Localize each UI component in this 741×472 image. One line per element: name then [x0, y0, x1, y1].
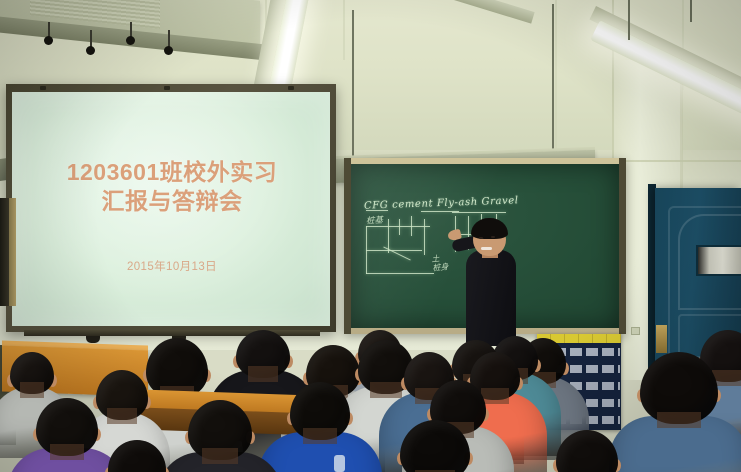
wall-trim-strip — [9, 198, 16, 306]
wall-speaker-dark — [0, 198, 9, 306]
person-neck — [20, 382, 45, 398]
screen-knob — [86, 336, 100, 343]
blackboard-note-right: 土桩身 — [431, 254, 449, 273]
chalk-underline — [366, 210, 388, 211]
person-neck — [50, 444, 85, 460]
person-neck — [303, 428, 337, 444]
person-neck — [370, 382, 401, 398]
person-neck — [481, 388, 509, 404]
blackboard-frame-left — [344, 158, 351, 334]
chalk-line — [366, 273, 434, 274]
person-neck — [107, 408, 136, 424]
light-hanger-rod — [552, 4, 554, 160]
chalk-pile — [411, 216, 412, 236]
person-neck — [202, 448, 238, 464]
ceiling-seam — [343, 0, 345, 60]
presenter-eye-left — [479, 237, 483, 239]
door-handle-plate[interactable] — [656, 325, 667, 353]
slide-title-line-1: 1203601班校外实习 — [22, 158, 322, 187]
blackboard-subnote-text: 桩基 — [366, 214, 384, 227]
presenter-mouth — [481, 247, 492, 250]
screen-bolt — [288, 86, 294, 90]
projector-knob — [44, 36, 53, 45]
light-switch[interactable] — [631, 327, 640, 335]
slide-title-line-2: 汇报与答辩会 — [22, 187, 322, 216]
person-neck — [248, 366, 278, 382]
projector-knob — [164, 46, 173, 55]
door-window — [696, 245, 741, 276]
light-hanger-rod — [690, 0, 692, 22]
ceiling-seam — [555, 0, 557, 160]
projector-knob — [86, 46, 95, 55]
water-bottle — [334, 455, 345, 472]
chalk-pile — [399, 219, 400, 235]
classroom-photo: 1203601班校外实习 汇报与答辩会 2015年10月13日 CFG ceme… — [0, 0, 741, 472]
blackboard-frame-right — [619, 158, 626, 334]
slide-date: 2015年10月13日 — [22, 258, 322, 274]
projector-knob — [126, 36, 135, 45]
screen-bolt — [164, 86, 170, 90]
light-hanger-rod — [628, 0, 630, 40]
screen-bolt — [40, 86, 46, 90]
chalk-line — [452, 212, 506, 213]
presenter-torso — [466, 250, 516, 346]
chalk-pile — [424, 219, 425, 255]
person-neck — [657, 412, 701, 428]
light-hanger-rod — [352, 10, 354, 160]
slide-title: 1203601班校外实习 汇报与答辩会 — [22, 158, 322, 217]
chalk-line — [366, 226, 430, 227]
presenter-eye-right — [491, 236, 495, 238]
